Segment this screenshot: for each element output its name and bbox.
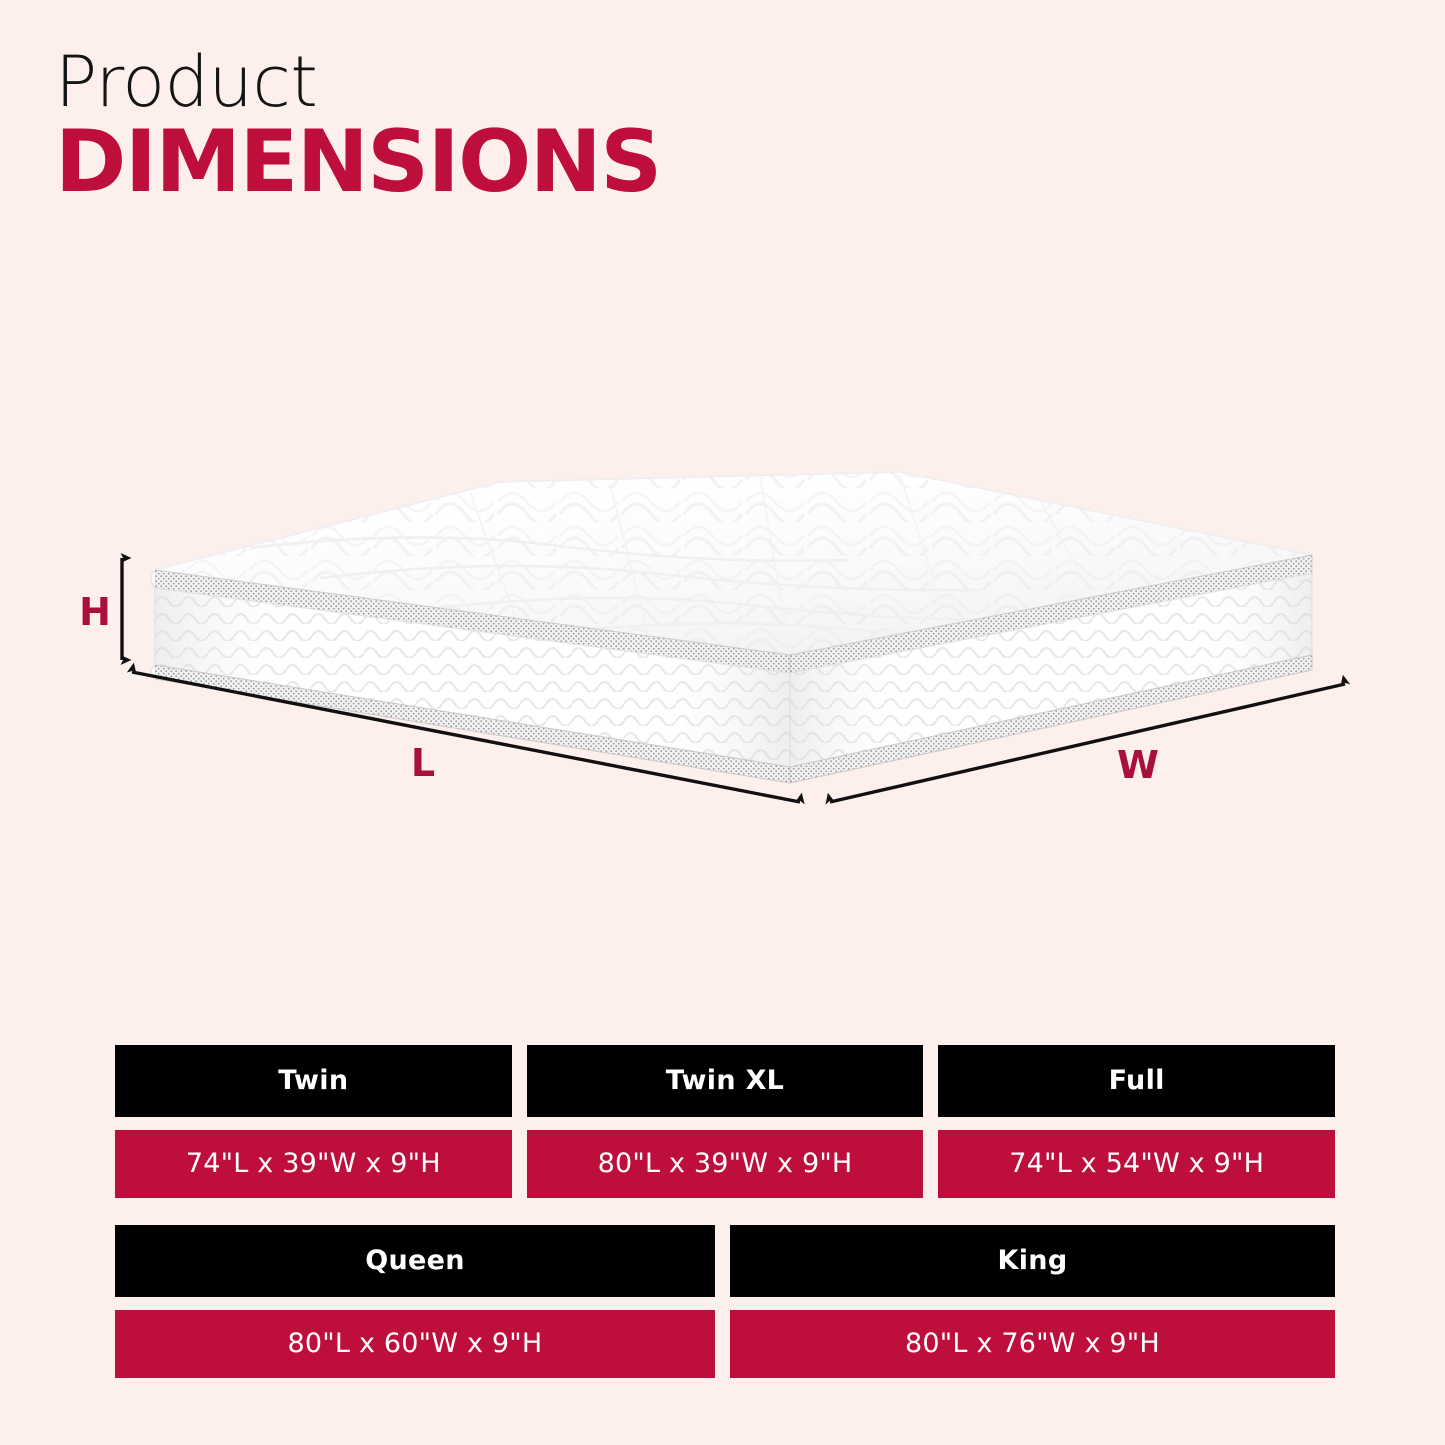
size-value-twin: 74"L x 39"W x 9"H — [115, 1130, 512, 1198]
size-name-queen: Queen — [115, 1225, 715, 1297]
size-value-king: 80"L x 76"W x 9"H — [730, 1310, 1335, 1378]
size-column-king: King 80"L x 76"W x 9"H — [730, 1225, 1335, 1378]
size-value-queen: 80"L x 60"W x 9"H — [115, 1310, 715, 1378]
height-dimension-label: H — [79, 590, 111, 634]
table-row: Queen 80"L x 60"W x 9"H King 80"L x 76"W… — [115, 1225, 1335, 1378]
page-title-line1: Product — [55, 48, 955, 117]
size-value-twin-xl: 80"L x 39"W x 9"H — [527, 1130, 924, 1198]
page-title-line2: DIMENSIONS — [55, 119, 955, 207]
size-column-queen: Queen 80"L x 60"W x 9"H — [115, 1225, 715, 1378]
mattress-illustration: H L W — [0, 420, 1445, 890]
length-dimension-label: L — [411, 741, 435, 785]
size-name-king: King — [730, 1225, 1335, 1297]
mattress-graphic — [151, 472, 1312, 783]
size-column-full: Full 74"L x 54"W x 9"H — [938, 1045, 1335, 1198]
size-column-twin-xl: Twin XL 80"L x 39"W x 9"H — [527, 1045, 924, 1198]
size-value-full: 74"L x 54"W x 9"H — [938, 1130, 1335, 1198]
size-column-twin: Twin 74"L x 39"W x 9"H — [115, 1045, 512, 1198]
size-name-twin-xl: Twin XL — [527, 1045, 924, 1117]
width-dimension-label: W — [1117, 743, 1159, 787]
size-name-full: Full — [938, 1045, 1335, 1117]
size-dimensions-table: Twin 74"L x 39"W x 9"H Twin XL 80"L x 39… — [0, 1035, 1445, 1395]
page-title: Product DIMENSIONS — [55, 48, 955, 206]
size-name-twin: Twin — [115, 1045, 512, 1117]
table-row: Twin 74"L x 39"W x 9"H Twin XL 80"L x 39… — [115, 1045, 1335, 1198]
